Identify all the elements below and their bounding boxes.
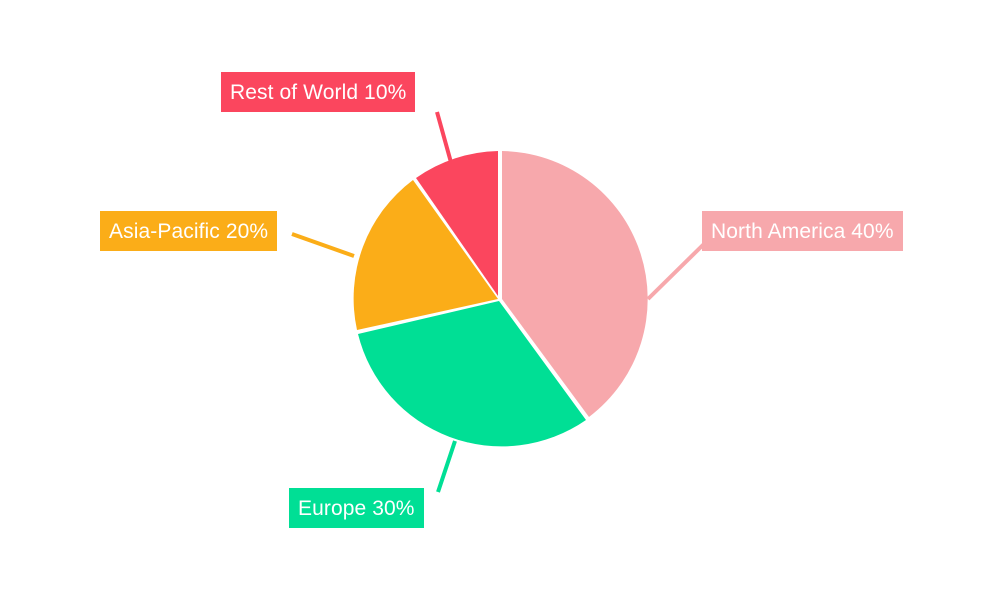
pie-label-rest-of-world-text: Rest of World 10% [230, 82, 406, 103]
pie-chart-canvas [0, 0, 1000, 600]
pie-label-asia-pacific: Asia-Pacific 20% [100, 211, 277, 251]
pie-label-asia-pacific-text: Asia-Pacific 20% [109, 221, 268, 242]
leader-line-rest-of-world [437, 112, 452, 166]
leader-line-asia-pacific [292, 234, 354, 256]
leader-line-north-america [648, 242, 706, 299]
pie-chart: North America 40% Europe 30% Asia-Pacifi… [0, 0, 1000, 600]
pie-label-europe: Europe 30% [289, 488, 424, 528]
pie-label-europe-text: Europe 30% [298, 498, 415, 519]
leader-line-europe [438, 441, 455, 492]
pie-label-north-america-text: North America 40% [711, 221, 894, 242]
pie-label-rest-of-world: Rest of World 10% [221, 72, 415, 112]
pie-label-north-america: North America 40% [702, 211, 903, 251]
pie-slices [354, 151, 648, 446]
